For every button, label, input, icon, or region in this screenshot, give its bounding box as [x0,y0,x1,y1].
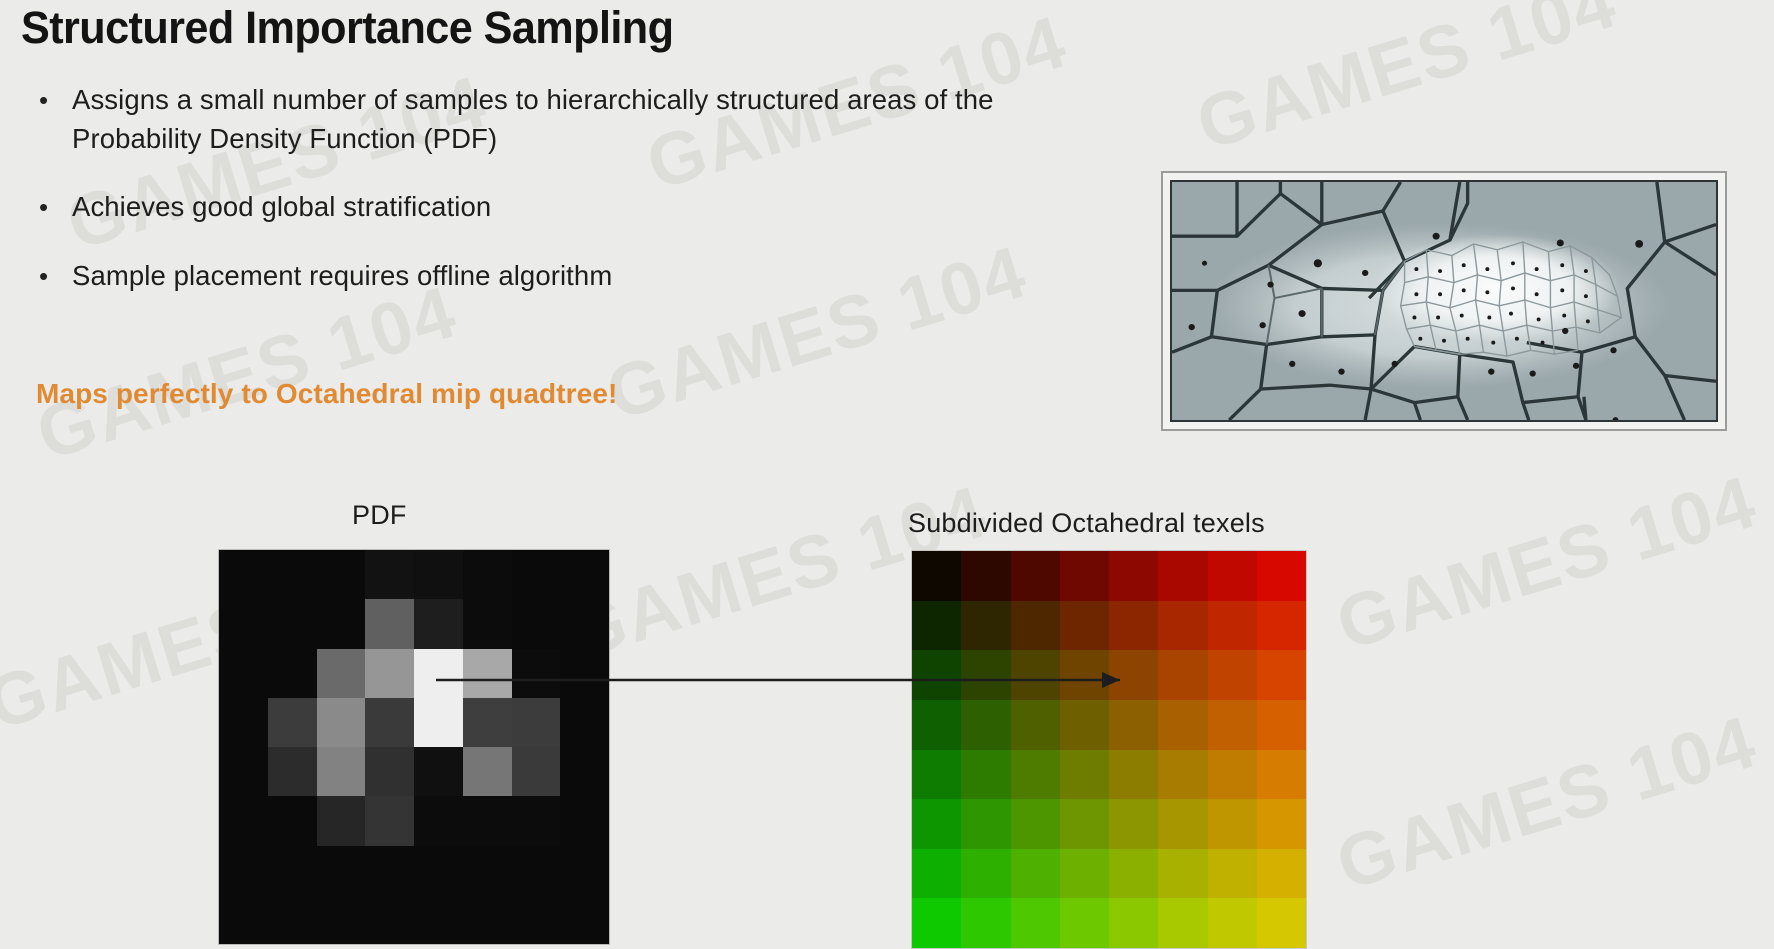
pdf-cell-r1-c0 [219,599,268,648]
texel-cell-r7-c2 [1011,898,1060,948]
pdf-cell-r0-c4 [414,550,463,599]
pdf-cell-r5-c3 [365,796,414,845]
pdf-cell-r1-c7 [560,599,609,648]
pdf-cell-r2-c5 [463,649,512,698]
texel-cell-r0-c0 [912,551,961,601]
pdf-cell-r3-c3 [365,698,414,747]
texel-cell-r2-c6 [1208,650,1257,700]
pdf-cell-r4-c7 [560,747,609,796]
page-title: Structured Importance Sampling [21,2,673,54]
texels-figure-label: Subdivided Octahedral texels [908,508,1265,539]
texel-cell-r1-c1 [961,601,1010,651]
pdf-cell-r7-c7 [560,895,609,944]
texel-cell-r5-c4 [1109,799,1158,849]
pdf-cell-r6-c3 [365,846,414,895]
pdf-cell-r2-c7 [560,649,609,698]
pdf-heatmap-image [218,549,610,945]
texel-cell-r6-c7 [1257,849,1306,899]
texel-cell-r6-c5 [1158,849,1207,899]
pdf-cell-r6-c2 [317,846,366,895]
texel-cell-r7-c1 [961,898,1010,948]
pdf-cell-r3-c6 [512,698,561,747]
octahedral-texel-heatmap-image [911,550,1307,949]
texel-cell-r1-c2 [1011,601,1060,651]
pdf-cell-r4-c3 [365,747,414,796]
pdf-cell-r2-c2 [317,649,366,698]
voronoi-diagram-svg [1172,182,1716,420]
highlight-callout-text: Maps perfectly to Octahedral mip quadtre… [36,378,617,410]
pdf-cell-r5-c5 [463,796,512,845]
texel-cell-r3-c2 [1011,700,1060,750]
texel-cell-r7-c6 [1208,898,1257,948]
pdf-cell-r2-c4 [414,649,463,698]
texel-cell-r7-c7 [1257,898,1306,948]
texel-cell-r4-c7 [1257,750,1306,800]
pdf-cell-r4-c0 [219,747,268,796]
texel-cell-r3-c4 [1109,700,1158,750]
texel-cell-r2-c0 [912,650,961,700]
voronoi-figure-frame [1161,171,1727,431]
texel-cell-r4-c1 [961,750,1010,800]
pdf-cell-r7-c4 [414,895,463,944]
pdf-cell-r0-c1 [268,550,317,599]
list-item-label: Sample placement requires offline algori… [72,256,612,295]
pdf-cell-r4-c2 [317,747,366,796]
pdf-cell-r6-c6 [512,846,561,895]
pdf-cell-r1-c5 [463,599,512,648]
list-item: • Achieves good global stratification [34,187,1044,227]
texel-cell-r2-c2 [1011,650,1060,700]
texel-cell-r2-c1 [961,650,1010,700]
texel-cell-r1-c7 [1257,601,1306,651]
texel-cell-r7-c5 [1158,898,1207,948]
texel-cell-r4-c6 [1208,750,1257,800]
pdf-cell-r2-c0 [219,649,268,698]
pdf-cell-r6-c7 [560,846,609,895]
texel-cell-r2-c4 [1109,650,1158,700]
pdf-heatmap-grid [219,550,609,944]
list-item-label: Achieves good global stratification [72,187,491,226]
pdf-cell-r6-c0 [219,846,268,895]
pdf-cell-r0-c0 [219,550,268,599]
texel-cell-r2-c7 [1257,650,1306,700]
texel-cell-r0-c1 [961,551,1010,601]
pdf-cell-r4-c1 [268,747,317,796]
texel-cell-r3-c0 [912,700,961,750]
pdf-cell-r7-c2 [317,895,366,944]
texel-cell-r5-c3 [1060,799,1109,849]
texel-cell-r0-c5 [1158,551,1207,601]
bullet-marker-icon: • [34,187,72,227]
texel-cell-r4-c0 [912,750,961,800]
pdf-cell-r5-c7 [560,796,609,845]
pdf-cell-r1-c3 [365,599,414,648]
pdf-cell-r0-c6 [512,550,561,599]
pdf-cell-r7-c5 [463,895,512,944]
texel-cell-r0-c3 [1060,551,1109,601]
texel-cell-r4-c4 [1109,750,1158,800]
pdf-cell-r1-c1 [268,599,317,648]
pdf-cell-r3-c5 [463,698,512,747]
texel-cell-r6-c1 [961,849,1010,899]
texel-cell-r6-c6 [1208,849,1257,899]
pdf-cell-r2-c1 [268,649,317,698]
texel-cell-r3-c7 [1257,700,1306,750]
texel-cell-r5-c5 [1158,799,1207,849]
pdf-cell-r6-c5 [463,846,512,895]
pdf-cell-r4-c4 [414,747,463,796]
octahedral-texel-grid [912,551,1306,948]
texel-cell-r4-c5 [1158,750,1207,800]
texel-cell-r6-c3 [1060,849,1109,899]
texel-cell-r7-c0 [912,898,961,948]
texel-cell-r4-c2 [1011,750,1060,800]
pdf-cell-r6-c4 [414,846,463,895]
texel-cell-r1-c5 [1158,601,1207,651]
pdf-cell-r0-c2 [317,550,366,599]
pdf-cell-r7-c0 [219,895,268,944]
pdf-cell-r5-c6 [512,796,561,845]
texel-cell-r0-c7 [1257,551,1306,601]
pdf-cell-r0-c3 [365,550,414,599]
texel-cell-r0-c4 [1109,551,1158,601]
list-item: • Assigns a small number of samples to h… [34,80,1044,158]
pdf-cell-r3-c4 [414,698,463,747]
pdf-cell-r5-c2 [317,796,366,845]
pdf-cell-r4-c6 [512,747,561,796]
pdf-cell-r4-c5 [463,747,512,796]
pdf-cell-r1-c6 [512,599,561,648]
pdf-cell-r7-c3 [365,895,414,944]
list-item: • Sample placement requires offline algo… [34,256,1044,296]
pdf-cell-r7-c6 [512,895,561,944]
pdf-cell-r3-c1 [268,698,317,747]
pdf-cell-r1-c4 [414,599,463,648]
texel-cell-r5-c1 [961,799,1010,849]
texel-cell-r5-c0 [912,799,961,849]
texel-cell-r1-c6 [1208,601,1257,651]
texel-cell-r2-c5 [1158,650,1207,700]
texel-cell-r3-c1 [961,700,1010,750]
texel-cell-r2-c3 [1060,650,1109,700]
texel-cell-r1-c0 [912,601,961,651]
texel-cell-r3-c5 [1158,700,1207,750]
texel-cell-r0-c6 [1208,551,1257,601]
texel-cell-r0-c2 [1011,551,1060,601]
texel-cell-r6-c4 [1109,849,1158,899]
pdf-cell-r0-c5 [463,550,512,599]
pdf-cell-r5-c0 [219,796,268,845]
texel-cell-r6-c0 [912,849,961,899]
pdf-cell-r2-c3 [365,649,414,698]
pdf-cell-r2-c6 [512,649,561,698]
pdf-cell-r3-c2 [317,698,366,747]
pdf-cell-r3-c7 [560,698,609,747]
pdf-cell-r1-c2 [317,599,366,648]
voronoi-figure-image [1170,180,1718,422]
texel-cell-r1-c3 [1060,601,1109,651]
texel-cell-r4-c3 [1060,750,1109,800]
bullet-marker-icon: • [34,256,72,296]
pdf-cell-r0-c7 [560,550,609,599]
pdf-cell-r7-c1 [268,895,317,944]
texel-cell-r6-c2 [1011,849,1060,899]
texel-cell-r1-c4 [1109,601,1158,651]
pdf-cell-r5-c1 [268,796,317,845]
texel-cell-r5-c6 [1208,799,1257,849]
list-item-label: Assigns a small number of samples to hie… [72,80,1044,158]
bullet-list: • Assigns a small number of samples to h… [34,80,1044,325]
texel-cell-r3-c6 [1208,700,1257,750]
texel-cell-r7-c4 [1109,898,1158,948]
pdf-cell-r5-c4 [414,796,463,845]
texel-cell-r5-c2 [1011,799,1060,849]
bullet-marker-icon: • [34,80,72,120]
texel-cell-r5-c7 [1257,799,1306,849]
pdf-cell-r3-c0 [219,698,268,747]
texel-cell-r7-c3 [1060,898,1109,948]
pdf-cell-r6-c1 [268,846,317,895]
texel-cell-r3-c3 [1060,700,1109,750]
pdf-figure-label: PDF [352,500,407,531]
